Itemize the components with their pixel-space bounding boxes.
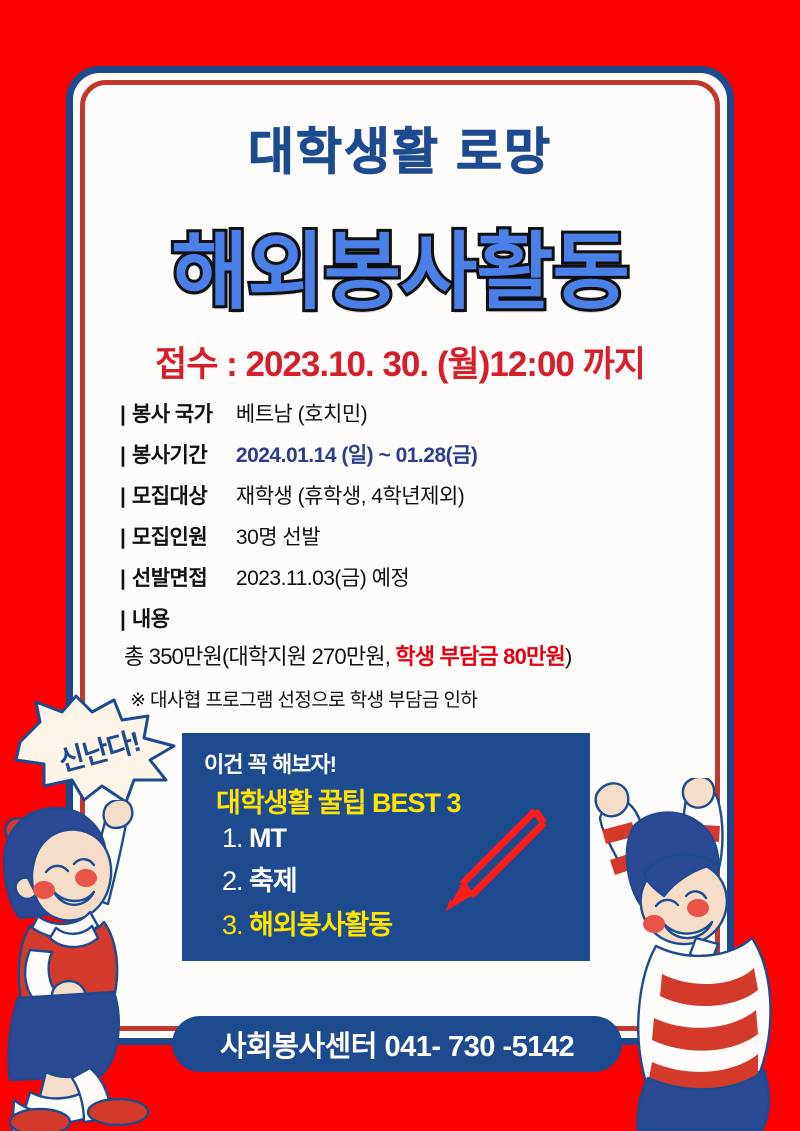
detail-label: 모집대상	[132, 480, 236, 510]
tip-item-number: 1.	[222, 823, 243, 853]
poster-main-title: 해외봉사활동	[0, 205, 800, 326]
content-label: 내용	[132, 603, 236, 633]
detail-row: | 봉사기간 2024.01.14 (일) ~ 01.28(금)	[120, 439, 680, 469]
detail-value: 재학생 (휴학생, 4학년제외)	[236, 480, 464, 510]
poster-subtitle: 대학생활 로망	[0, 112, 800, 184]
bullet-bar-icon: |	[120, 403, 126, 427]
bullet-bar-icon: |	[120, 608, 126, 632]
cheering-boy-illustration	[592, 778, 800, 1131]
bullet-bar-icon: |	[120, 567, 126, 591]
pencil-icon	[432, 801, 552, 921]
detail-value: 30명 선발	[236, 521, 320, 551]
tip-item-label: 해외봉사활동	[249, 910, 392, 940]
tip-item: 1. MT	[222, 823, 392, 854]
tip-heading: 이건 꼭 해보자!	[204, 747, 336, 779]
tip-list: 1. MT 2. 축제 3. 해외봉사활동	[222, 823, 392, 947]
student-fee-highlight: 학생 부담금 80만원	[395, 644, 565, 669]
poster-canvas: 대학생활 로망 해외봉사활동 접수 : 2023.10. 30. (월)12:0…	[0, 0, 800, 1131]
contact-bar[interactable]: 사회봉사센터 041- 730 -5142	[172, 1016, 622, 1072]
application-deadline: 접수 : 2023.10. 30. (월)12:00 까지	[0, 336, 800, 387]
bullet-bar-icon: |	[120, 444, 126, 468]
detail-row: | 봉사 국가 베트남 (호치민)	[120, 398, 680, 428]
cheering-girl-illustration	[0, 800, 204, 1131]
tip-item: 2. 축제	[222, 859, 392, 898]
tip-item-number: 2.	[222, 866, 243, 896]
cost-breakdown: 총 350만원(대학지원 270만원, 학생 부담금 80만원)	[124, 639, 680, 671]
program-note: ※ 대사협 프로그램 선정으로 학생 부담금 인하	[130, 685, 680, 712]
detail-value: 베트남 (호치민)	[236, 398, 367, 428]
detail-value: 2024.01.14 (일) ~ 01.28(금)	[236, 439, 478, 469]
bullet-bar-icon: |	[120, 485, 126, 509]
speech-bubble: 신난다!	[14, 694, 184, 806]
content-heading-row: | 내용	[120, 603, 680, 633]
detail-label: 봉사기간	[132, 439, 236, 469]
detail-list: | 봉사 국가 베트남 (호치민) | 봉사기간 2024.01.14 (일) …	[120, 398, 680, 712]
detail-row: | 모집대상 재학생 (휴학생, 4학년제외)	[120, 480, 680, 510]
detail-label: 봉사 국가	[132, 398, 236, 428]
detail-row: | 모집인원 30명 선발	[120, 521, 680, 551]
tip-item-label: 축제	[249, 866, 297, 896]
detail-label: 선발면접	[132, 562, 236, 592]
cost-suffix: )	[565, 644, 572, 669]
tip-item-number: 3.	[222, 910, 243, 940]
tip-item: 3. 해외봉사활동	[222, 903, 392, 942]
tip-subheading: 대학생활 꿀팁 BEST 3	[216, 781, 461, 820]
cost-prefix: 총 350만원(대학지원 270만원,	[124, 644, 395, 669]
tip-box: 이건 꼭 해보자! 대학생활 꿀팁 BEST 3 1. MT 2. 축제 3. …	[182, 733, 590, 961]
detail-value: 2023.11.03(금) 예정	[236, 562, 409, 592]
detail-row: | 선발면접 2023.11.03(금) 예정	[120, 562, 680, 592]
detail-label: 모집인원	[132, 521, 236, 551]
bullet-bar-icon: |	[120, 526, 126, 550]
tip-item-label: MT	[249, 823, 286, 853]
